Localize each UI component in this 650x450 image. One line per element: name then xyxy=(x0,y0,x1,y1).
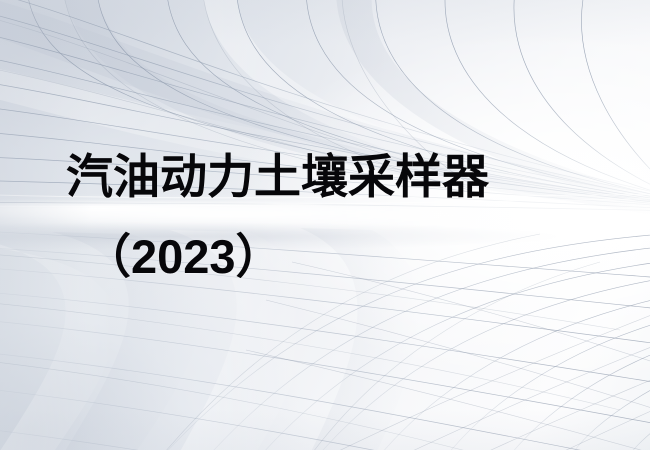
slide-title-line-1: 汽油动力土壤采样器 xyxy=(66,148,489,206)
slide-title-block: 汽油动力土壤采样器 （2023） xyxy=(0,0,650,450)
title-slide: 汽油动力土壤采样器 （2023） xyxy=(0,0,650,450)
slide-title-line-2: （2023） xyxy=(84,228,283,286)
